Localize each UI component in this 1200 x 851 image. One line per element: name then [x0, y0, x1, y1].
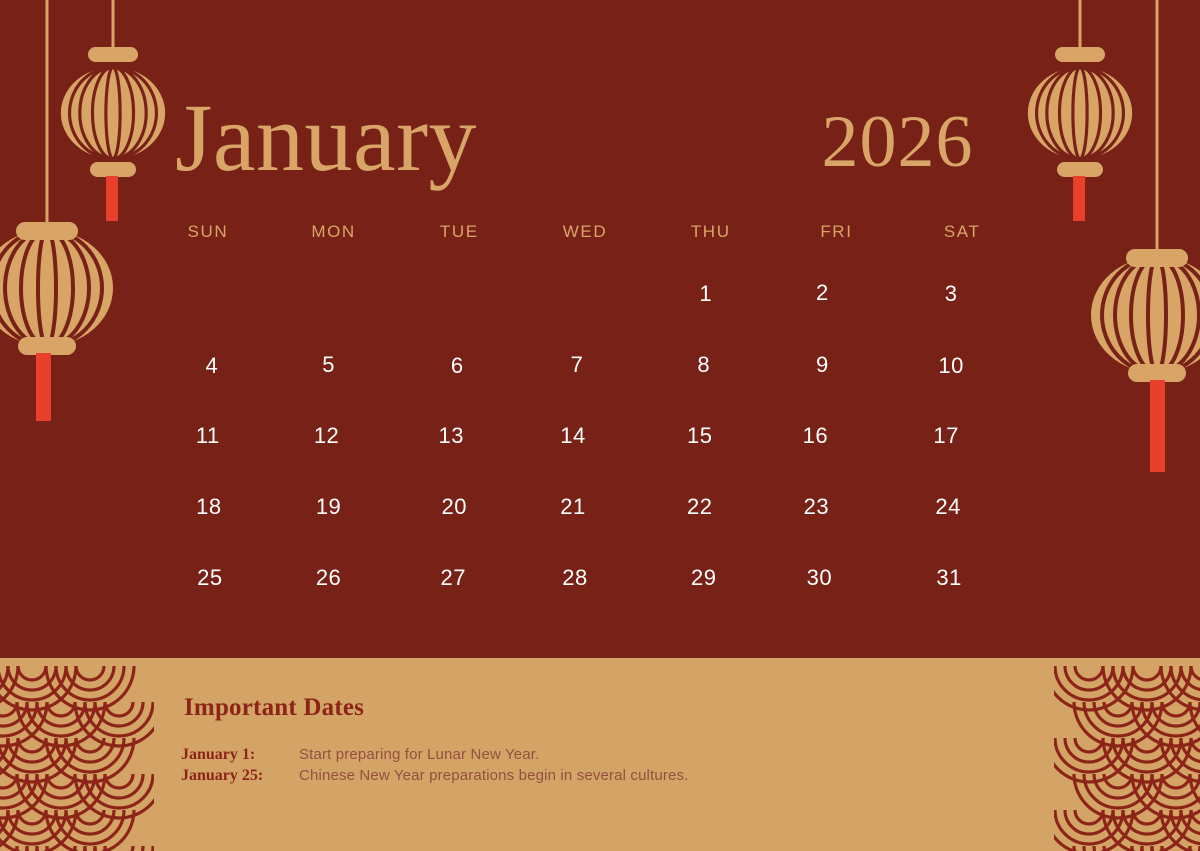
calendar-week-row: 11 12 13 14 15 16 17	[145, 424, 1025, 495]
day-cell[interactable]: 2	[760, 281, 886, 352]
important-date-label: January 25:	[181, 765, 299, 786]
calendar-week-row: 1 2 3	[145, 282, 1025, 353]
day-cell[interactable]: 5	[266, 353, 392, 424]
calendar-header: January 2026	[0, 88, 1200, 188]
day-cell[interactable]: 3	[888, 282, 1014, 353]
day-cell[interactable]: 25	[147, 566, 273, 637]
lantern-cap	[1126, 249, 1188, 267]
day-cell[interactable]: 10	[888, 354, 1014, 425]
day-cell[interactable]: 13	[388, 424, 514, 495]
day-cell[interactable]: 28	[512, 566, 638, 637]
weekday-header-row: SUN MON TUE WED THU FRI SAT	[145, 222, 1025, 256]
lantern-tassel	[1150, 380, 1165, 472]
calendar-grid: SUN MON TUE WED THU FRI SAT 1 2 3 4 5	[145, 222, 1025, 637]
lantern-mid-left	[0, 230, 113, 346]
weekday-mon: MON	[271, 222, 397, 256]
day-cell[interactable]	[145, 282, 271, 353]
important-dates-title: Important Dates	[184, 694, 364, 722]
calendar-week-row: 25 26 27 28 29 30 31	[145, 566, 1025, 637]
day-cell[interactable]	[522, 282, 648, 353]
lantern-bottom-right	[1091, 257, 1200, 373]
important-date-item: January 25: Chinese New Year preparation…	[181, 765, 688, 786]
day-cell[interactable]: 15	[637, 424, 763, 495]
calendar-week-row: 4 5 6 7 8 9 10	[145, 353, 1025, 424]
lantern-base	[1128, 364, 1186, 382]
day-cell[interactable]: 30	[757, 566, 883, 637]
important-dates-list: January 1: Start preparing for Lunar New…	[181, 744, 688, 786]
day-cell[interactable]	[271, 282, 397, 353]
important-date-label: January 1:	[181, 744, 299, 765]
day-cell[interactable]: 23	[754, 495, 880, 566]
important-date-description: Chinese New Year preparations begin in s…	[299, 765, 688, 786]
calendar-week-row: 18 19 20 21 22 23 24	[145, 495, 1025, 566]
lantern-cap	[16, 222, 78, 240]
important-date-item: January 1: Start preparing for Lunar New…	[181, 744, 688, 765]
day-cell[interactable]: 20	[391, 495, 517, 566]
important-dates-panel: Important Dates January 1: Start prepari…	[0, 658, 1200, 851]
day-cell[interactable]: 9	[760, 353, 886, 424]
day-cell[interactable]: 8	[641, 353, 767, 424]
day-cell[interactable]: 6	[394, 354, 520, 425]
day-cell[interactable]: 24	[885, 495, 1011, 566]
weekday-sat: SAT	[899, 222, 1025, 256]
calendar-page: January 2026 SUN MON TUE WED THU FRI SAT…	[0, 0, 1200, 851]
important-date-description: Start preparing for Lunar New Year.	[299, 744, 539, 765]
day-cell[interactable]: 19	[266, 495, 392, 566]
day-cell[interactable]: 22	[637, 495, 763, 566]
lantern-cap	[1055, 47, 1105, 62]
month-title: January	[175, 88, 477, 188]
day-cell[interactable]: 26	[266, 566, 392, 637]
day-cell[interactable]	[396, 282, 522, 353]
lantern-cap	[88, 47, 138, 62]
day-cell[interactable]: 29	[641, 566, 767, 637]
weekday-tue: TUE	[396, 222, 522, 256]
day-cell[interactable]: 21	[510, 495, 636, 566]
weekday-fri: FRI	[774, 222, 900, 256]
day-cell[interactable]: 4	[149, 354, 275, 425]
day-cell[interactable]: 16	[753, 424, 879, 495]
day-cell[interactable]: 31	[886, 566, 1012, 637]
seigaiha-wave-pattern-right	[1054, 658, 1200, 851]
day-cell[interactable]: 27	[390, 566, 516, 637]
calendar-weeks: 1 2 3 4 5 6 7 8 9 10 11 12 13 14 15 16	[145, 282, 1025, 637]
day-cell[interactable]: 1	[643, 282, 769, 353]
weekday-wed: WED	[522, 222, 648, 256]
day-cell[interactable]: 14	[510, 424, 636, 495]
lantern-base	[18, 337, 76, 355]
seigaiha-wave-pattern-left	[0, 658, 154, 851]
day-cell[interactable]: 18	[146, 495, 272, 566]
day-cell[interactable]: 11	[145, 424, 271, 495]
lantern-tassel	[36, 353, 51, 421]
year-title: 2026	[815, 102, 980, 182]
weekday-sun: SUN	[145, 222, 271, 256]
day-cell[interactable]: 17	[883, 424, 1009, 495]
weekday-thu: THU	[648, 222, 774, 256]
day-cell[interactable]: 7	[514, 353, 640, 424]
day-cell[interactable]: 12	[264, 424, 390, 495]
